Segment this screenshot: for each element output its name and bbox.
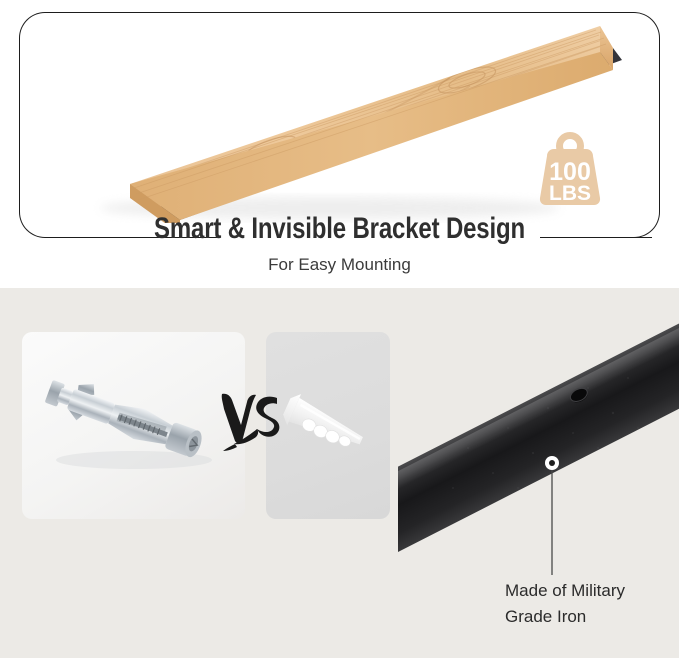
page-title: Smart & Invisible Bracket Design bbox=[68, 214, 611, 244]
product-infographic: 100 LBS Smart & Invisible Bracket Design… bbox=[0, 0, 679, 658]
callout-leader-iron-rod bbox=[540, 455, 564, 577]
metal-anchor-panel bbox=[22, 332, 245, 519]
frame-border-bottom-right bbox=[622, 237, 652, 238]
weight-capacity-badge: 100 LBS bbox=[528, 128, 612, 212]
top-feature-panel: 100 LBS Smart & Invisible Bracket Design… bbox=[0, 0, 679, 288]
plastic-anchor-panel bbox=[266, 332, 390, 519]
vs-icon bbox=[217, 388, 283, 460]
page-subtitle: For Easy Mounting bbox=[0, 256, 679, 273]
iron-rod-label-line2: Grade Iron bbox=[505, 604, 625, 630]
weight-unit: LBS bbox=[549, 182, 591, 205]
iron-rod-label-line1: Made of Military bbox=[505, 578, 625, 604]
iron-rod-label: Made of Military Grade Iron bbox=[505, 578, 625, 631]
iron-rod-image bbox=[398, 288, 679, 578]
